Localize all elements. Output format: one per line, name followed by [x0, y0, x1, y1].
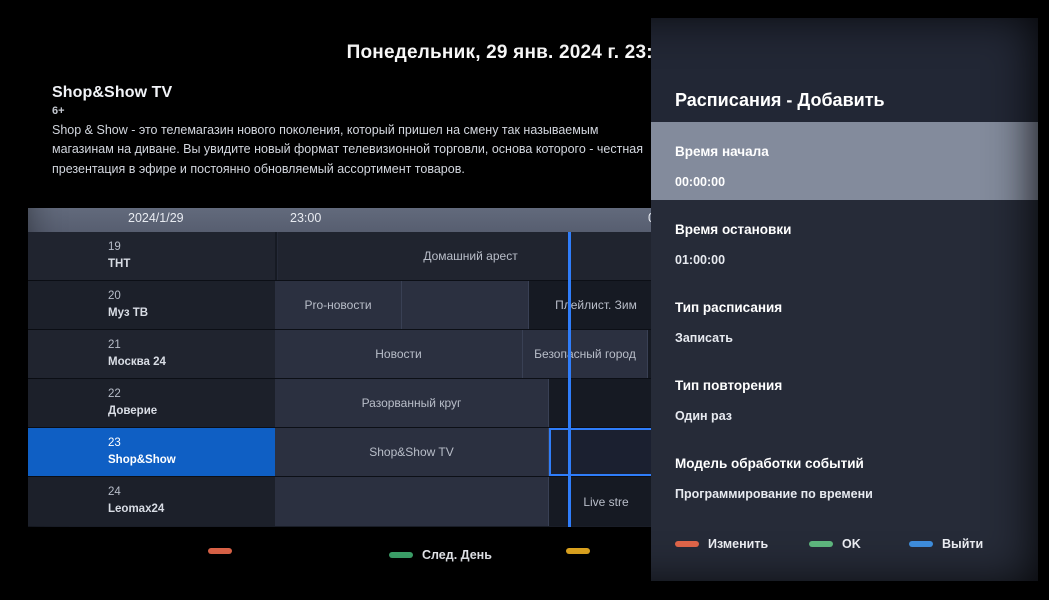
channel-number: 19 [108, 239, 275, 256]
epg-grid[interactable]: 2024/1/2923:000 19ТНТДомашний арест20Муз… [28, 208, 664, 527]
dialog-field[interactable]: Модель обработки событийПрограммирование… [651, 434, 1038, 512]
program-title: Shop&Show TV [52, 84, 652, 102]
color-key-label: Изменить [708, 537, 768, 551]
dialog-title: Расписания - Добавить [675, 90, 885, 111]
color-key-label: След. День [422, 548, 492, 562]
program-cell-title: Shop&Show TV [363, 445, 460, 459]
channel-number: 22 [108, 386, 275, 403]
color-key-button[interactable] [566, 548, 599, 554]
program-cell[interactable]: Новости [275, 330, 523, 378]
epg-channel-row[interactable]: 24Leomax24Live stre [28, 477, 664, 526]
channel-cell[interactable]: 22Доверие [28, 379, 275, 427]
color-key-swatch-icon [208, 548, 232, 554]
dialog-field-list[interactable]: Время начала00:00:00Время остановки01:00… [651, 122, 1038, 512]
channel-name: Муз ТВ [108, 305, 275, 322]
channel-cell[interactable]: 23Shop&Show [28, 428, 275, 476]
program-cell[interactable]: Плейлист. Зим [529, 281, 664, 329]
channel-name: Москва 24 [108, 354, 275, 371]
channel-number: 24 [108, 484, 275, 501]
channel-number: 20 [108, 288, 275, 305]
dialog-field[interactable]: Время остановки01:00:00 [651, 200, 1038, 278]
dialog-field-value: 01:00:00 [675, 237, 1014, 267]
epg-channel-row[interactable]: 22ДовериеРазорванный круг [28, 379, 664, 428]
timeline-label-0: 2024/1/29 [128, 211, 184, 225]
dialog-field-label: Модель обработки событий [675, 434, 1014, 471]
color-key-button[interactable]: Выйти [909, 537, 983, 551]
program-cell-title: Новости [369, 347, 427, 361]
program-strip[interactable]: Shop&Show TV [275, 428, 664, 476]
color-key-swatch-icon [909, 541, 933, 547]
program-cell-title: Домашний арест [417, 249, 523, 263]
dialog-color-key-bar[interactable]: ИзменитьOKВыйти [675, 537, 1020, 557]
program-cell[interactable] [402, 281, 529, 329]
program-strip[interactable]: Pro-новостиПлейлист. Зим [275, 281, 664, 329]
channel-cell[interactable]: 20Муз ТВ [28, 281, 275, 329]
program-cell-title: Плейлист. Зим [549, 298, 643, 312]
color-key-button[interactable]: След. День [389, 548, 492, 562]
program-cell[interactable]: Разорванный круг [275, 379, 549, 427]
color-key-swatch-icon [809, 541, 833, 547]
color-key-bar[interactable]: След. День [0, 548, 660, 572]
timeline-label-1: 23:00 [290, 211, 321, 225]
dialog-field-value: 00:00:00 [675, 159, 1014, 189]
dialog-field-value: Один раз [675, 393, 1014, 423]
dialog-field-label: Тип повторения [675, 356, 1014, 393]
epg-channel-row[interactable]: 23Shop&ShowShop&Show TV [28, 428, 664, 477]
channel-cell[interactable]: 19ТНТ [28, 232, 275, 280]
color-key-swatch-icon [389, 552, 413, 558]
program-strip[interactable]: Разорванный круг [275, 379, 664, 427]
program-cell[interactable]: Домашний арест [278, 232, 664, 280]
channel-number: 21 [108, 337, 275, 354]
program-cell-title: Разорванный круг [356, 396, 468, 410]
epg-channel-rows[interactable]: 19ТНТДомашний арест20Муз ТВPro-новостиПл… [28, 232, 664, 526]
program-cell-title: Pro-новости [298, 298, 377, 312]
program-cell-title: Безопасный город [528, 347, 642, 361]
program-strip[interactable]: НовостиБезопасный город [275, 330, 664, 378]
program-cell[interactable]: Безопасный город [523, 330, 648, 378]
channel-cell[interactable]: 21Москва 24 [28, 330, 275, 378]
program-cell[interactable]: Pro-новости [275, 281, 402, 329]
program-cell[interactable] [549, 428, 664, 476]
epg-channel-row[interactable]: 20Муз ТВPro-новостиПлейлист. Зим [28, 281, 664, 330]
dialog-field[interactable]: Тип повторенияОдин раз [651, 356, 1038, 434]
program-cell[interactable]: Live stre [549, 477, 664, 526]
channel-cell[interactable]: 24Leomax24 [28, 477, 275, 526]
dialog-field-label: Время остановки [675, 200, 1014, 237]
channel-name: ТНТ [108, 256, 275, 273]
channel-name: Leomax24 [108, 501, 275, 518]
channel-number: 23 [108, 435, 275, 452]
channel-name: Доверие [108, 403, 275, 420]
dialog-field[interactable]: Тип расписанияЗаписать [651, 278, 1038, 356]
color-key-label: OK [842, 537, 861, 551]
age-rating-badge: 6+ [52, 105, 652, 117]
color-key-button[interactable]: OK [809, 537, 861, 551]
dialog-field-label: Время начала [675, 122, 1014, 159]
color-key-button[interactable]: Изменить [675, 537, 768, 551]
tv-epg-screen: Понедельник, 29 янв. 2024 г. 23:48:24 Sh… [0, 0, 1049, 600]
dialog-field-value: Программирование по времени [675, 471, 1014, 501]
dialog-field[interactable]: Время начала00:00:00 [651, 122, 1038, 200]
color-key-swatch-icon [566, 548, 590, 554]
program-cell[interactable] [549, 379, 664, 427]
schedule-add-dialog[interactable]: Расписания - Добавить Время начала00:00:… [651, 18, 1038, 581]
epg-channel-row[interactable]: 19ТНТДомашний арест [28, 232, 664, 281]
dialog-field-value: Записать [675, 315, 1014, 345]
program-cell[interactable] [275, 477, 549, 526]
program-strip[interactable]: Домашний арест [275, 232, 664, 280]
epg-timeline-header: 2024/1/2923:000 [28, 208, 664, 232]
color-key-swatch-icon [675, 541, 699, 547]
epg-channel-row[interactable]: 21Москва 24НовостиБезопасный город [28, 330, 664, 379]
dialog-field-label: Тип расписания [675, 278, 1014, 315]
color-key-label: Выйти [942, 537, 983, 551]
color-key-button[interactable] [208, 548, 241, 554]
channel-name: Shop&Show [108, 452, 275, 469]
program-cell-title: Live stre [577, 495, 634, 509]
program-strip[interactable]: Live stre [275, 477, 664, 526]
dialog-header: Расписания - Добавить [651, 18, 1038, 122]
program-description: Shop & Show - это телемагазин нового пок… [52, 121, 652, 179]
program-info-panel: Shop&Show TV 6+ Shop & Show - это телема… [52, 84, 652, 179]
program-cell[interactable]: Shop&Show TV [275, 428, 549, 476]
